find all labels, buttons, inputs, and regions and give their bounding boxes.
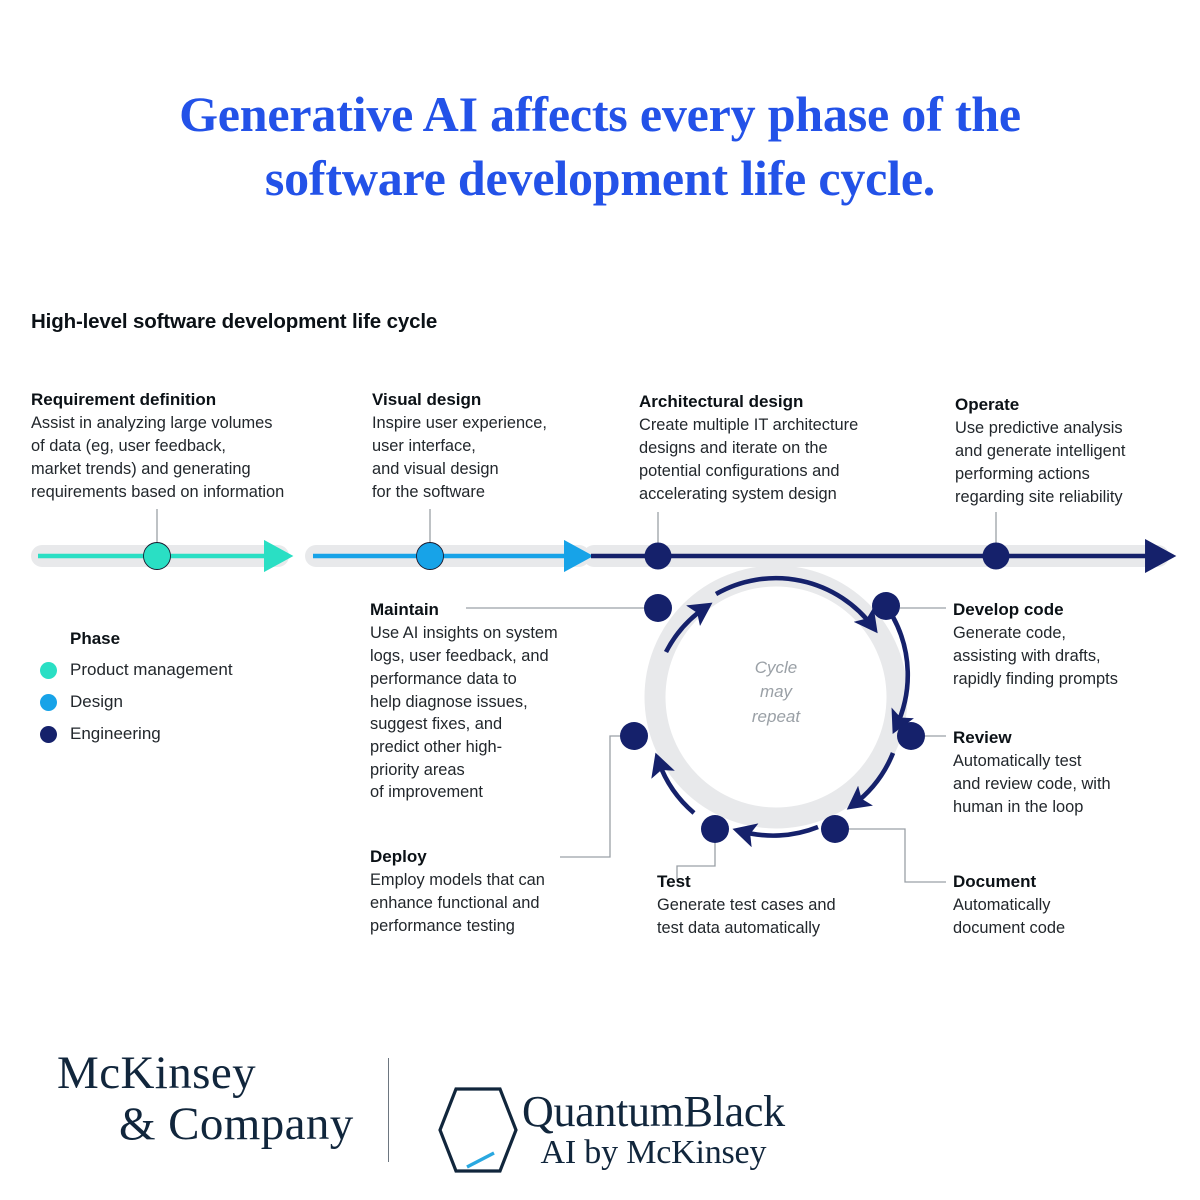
quantumblack-hexagon-icon	[432, 1085, 520, 1175]
timeline-track	[31, 545, 1169, 567]
phase-heading: Visual design	[372, 389, 607, 411]
footer: McKinsey & Company QuantumBlack AI by Mc…	[0, 1030, 1200, 1180]
timeline-dot-operate	[983, 543, 1010, 570]
section-heading: High-level software development life cyc…	[31, 310, 437, 334]
legend-item-label: Engineering	[70, 724, 161, 744]
cycle-block-deploy: Deploy Employ models that can enhance fu…	[370, 846, 610, 938]
cycle-heading: Develop code	[953, 599, 1188, 621]
legend-dot-icon	[40, 694, 57, 711]
cycle-block-maintain: Maintain Use AI insights on system logs,…	[370, 599, 610, 804]
timeline-connectors	[157, 509, 996, 545]
quantumblack-logo-line1: QuantumBlack	[522, 1090, 785, 1134]
cycle-block-document: Document Automatically document code	[953, 871, 1183, 940]
page-title: Generative AI affects every phase of the…	[110, 82, 1090, 210]
cycle-dot-review	[897, 722, 925, 750]
cycle-heading: Deploy	[370, 846, 610, 868]
legend-item-engineering: Engineering	[40, 718, 233, 750]
legend-item-product-management: Product management	[40, 654, 233, 686]
legend-item-label: Design	[70, 692, 123, 712]
cycle-block-develop-code: Develop code Generate code, assisting wi…	[953, 599, 1188, 691]
cycle-center-note: Cycle may repeat	[706, 656, 846, 729]
phase-heading: Operate	[955, 394, 1175, 416]
cycle-heading: Review	[953, 727, 1188, 749]
cycle-body: Generate test cases and test data automa…	[657, 894, 907, 939]
phase-block-architectural-design: Architectural design Create multiple IT …	[639, 391, 929, 505]
cycle-body: Employ models that can enhance functiona…	[370, 869, 610, 937]
cycle-body: Use AI insights on system logs, user fee…	[370, 622, 610, 804]
cycle-body: Generate code, assisting with drafts, ra…	[953, 622, 1188, 690]
cycle-dot-deploy	[620, 722, 648, 750]
cycle-dot-document	[821, 815, 849, 843]
cycle-heading: Test	[657, 871, 907, 893]
legend-item-design: Design	[40, 686, 233, 718]
legend-dot-icon	[40, 662, 57, 679]
quantumblack-logo: QuantumBlack AI by McKinsey	[522, 1090, 785, 1172]
phase-legend: Phase Product management Design Engineer…	[40, 629, 233, 750]
phase-heading: Architectural design	[639, 391, 929, 413]
cycle-heading: Maintain	[370, 599, 610, 621]
cycle-body: Automatically test and review code, with…	[953, 750, 1188, 818]
legend-title: Phase	[70, 629, 233, 649]
footer-divider	[388, 1058, 389, 1162]
phase-body: Create multiple IT architecture designs …	[639, 414, 929, 505]
phase-body: Use predictive analysis and generate int…	[955, 417, 1175, 508]
cycle-heading: Document	[953, 871, 1183, 893]
cycle-body: Automatically document code	[953, 894, 1183, 939]
quantumblack-logo-line2: AI by McKinsey	[522, 1134, 785, 1172]
cycle-dot-develop-code	[872, 592, 900, 620]
phase-block-operate: Operate Use predictive analysis and gene…	[955, 394, 1175, 508]
legend-item-label: Product management	[70, 660, 233, 680]
cycle-dot-maintain	[644, 594, 672, 622]
phase-block-requirement-definition: Requirement definition Assist in analyzi…	[31, 389, 351, 503]
phase-heading: Requirement definition	[31, 389, 351, 411]
timeline-dot-architectural-design	[645, 543, 672, 570]
phase-body: Inspire user experience, user interface,…	[372, 412, 607, 503]
mckinsey-logo: McKinsey & Company	[57, 1048, 354, 1150]
mckinsey-logo-line2: & Company	[57, 1099, 354, 1150]
timeline-dot-requirement-definition	[144, 543, 171, 570]
phase-block-visual-design: Visual design Inspire user experience, u…	[372, 389, 607, 503]
timeline-dot-visual-design	[417, 543, 444, 570]
legend-dot-icon	[40, 726, 57, 743]
mckinsey-logo-line1: McKinsey	[57, 1047, 256, 1099]
cycle-block-review: Review Automatically test and review cod…	[953, 727, 1188, 819]
cycle-block-test: Test Generate test cases and test data a…	[657, 871, 907, 940]
phase-body: Assist in analyzing large volumes of dat…	[31, 412, 351, 503]
cycle-dot-test	[701, 815, 729, 843]
